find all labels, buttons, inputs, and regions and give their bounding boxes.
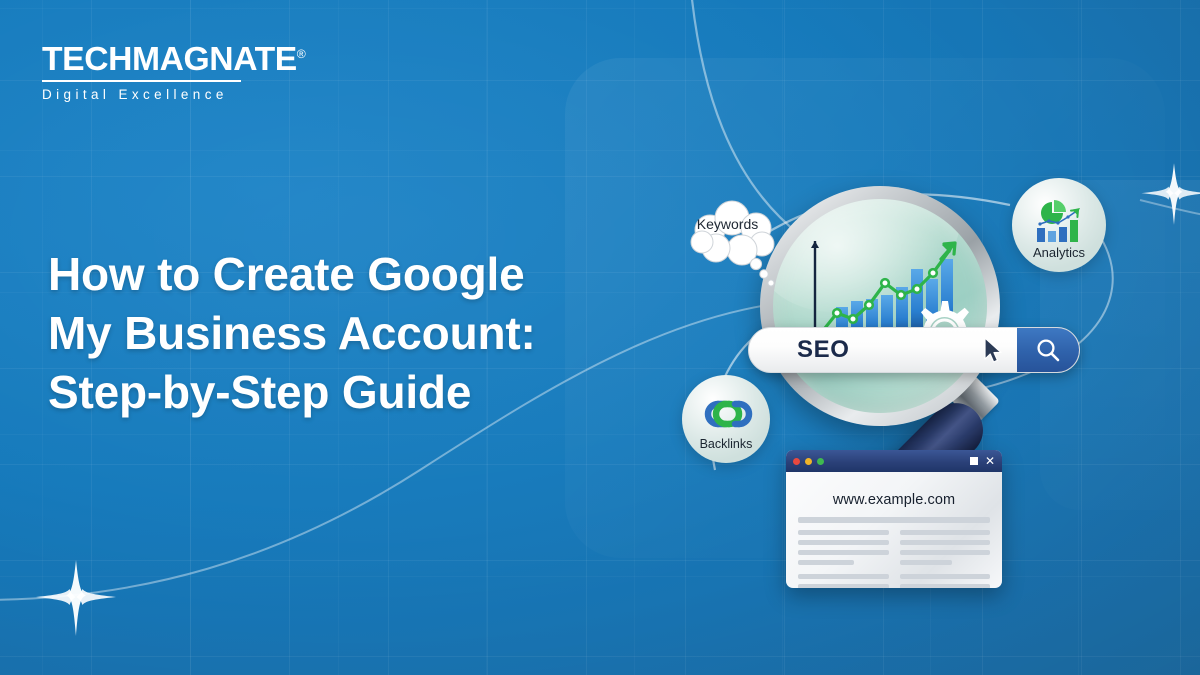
- close-icon[interactable]: ✕: [985, 455, 995, 467]
- content-line: [798, 574, 889, 579]
- traffic-light-close-icon[interactable]: [793, 458, 800, 465]
- content-line: [900, 574, 991, 579]
- content-line: [798, 540, 889, 545]
- analytics-chart-icon: [1031, 198, 1087, 244]
- browser-url[interactable]: www.example.com: [798, 492, 990, 508]
- banner-canvas: TECHMAGNATE® Digital Excellence How to C…: [0, 0, 1200, 675]
- content-line: [900, 530, 991, 535]
- browser-title-bar: ✕: [786, 450, 1002, 472]
- traffic-light-maximize-icon[interactable]: [817, 458, 824, 465]
- content-line: [900, 584, 991, 588]
- content-line: [900, 560, 952, 565]
- keywords-thought-bubble: Keywords: [680, 198, 790, 303]
- content-line: [900, 550, 991, 555]
- cursor-arrow-icon: [983, 337, 1003, 365]
- analytics-label: Analytics: [1033, 245, 1085, 260]
- backlinks-label: Backlinks: [700, 437, 753, 451]
- content-line: [900, 540, 991, 545]
- content-line: [798, 560, 854, 565]
- search-icon: [1035, 337, 1061, 363]
- content-line-full: [798, 517, 990, 523]
- minimize-icon[interactable]: [970, 457, 978, 465]
- window-controls: ✕: [970, 455, 995, 467]
- content-line: [798, 530, 889, 535]
- content-column-right: [900, 530, 991, 588]
- search-bar[interactable]: SEO: [748, 327, 1080, 373]
- badge-backlinks[interactable]: Backlinks: [682, 375, 770, 463]
- seo-illustration: SEO: [0, 0, 1200, 675]
- browser-content: www.example.com: [786, 472, 1002, 588]
- browser-window[interactable]: ✕ www.example.com: [786, 450, 1002, 588]
- keywords-label: Keywords: [680, 198, 775, 250]
- content-column-left: [798, 530, 889, 588]
- content-columns: [798, 530, 990, 588]
- traffic-light-minimize-icon[interactable]: [805, 458, 812, 465]
- search-input[interactable]: SEO: [797, 336, 849, 364]
- content-line: [798, 550, 889, 555]
- badge-analytics[interactable]: Analytics: [1012, 178, 1106, 272]
- content-line: [798, 584, 889, 588]
- magnifier-lens: [773, 199, 987, 413]
- magnifier-ring: [760, 186, 1000, 426]
- chain-link-icon: [699, 394, 753, 434]
- search-button[interactable]: [1017, 328, 1079, 372]
